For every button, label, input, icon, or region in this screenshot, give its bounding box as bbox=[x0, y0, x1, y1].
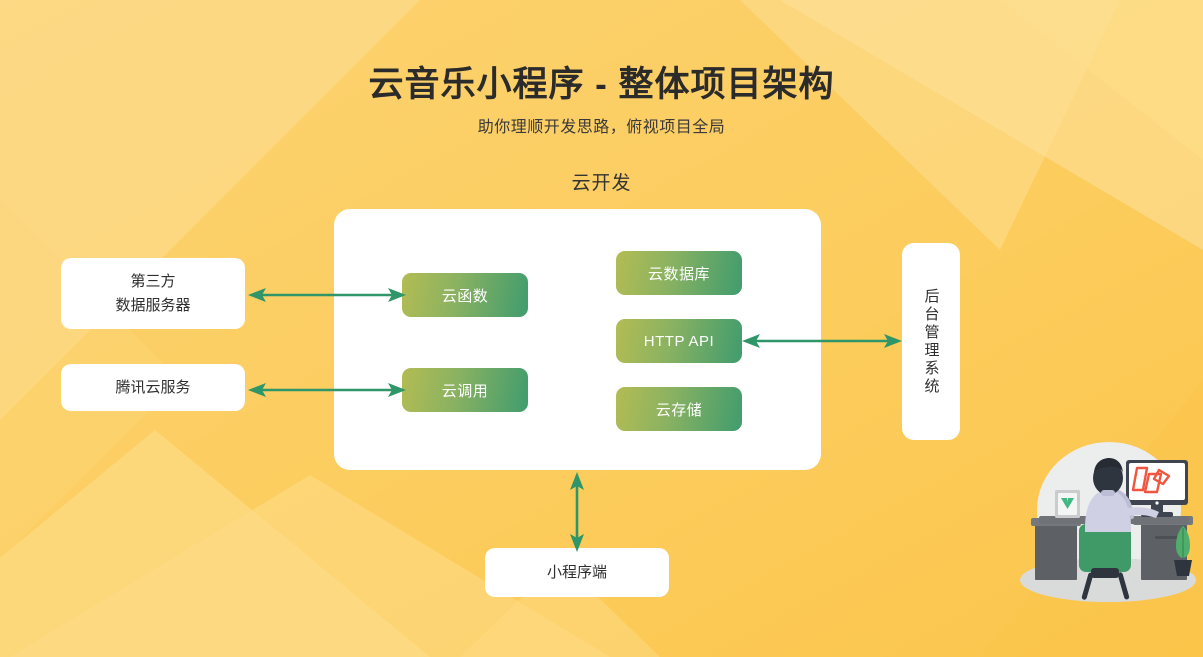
pill-cloud-database[interactable]: 云数据库 bbox=[616, 251, 742, 295]
page-title: 云音乐小程序 - 整体项目架构 bbox=[0, 56, 1203, 107]
developer-at-desk-illustration bbox=[1013, 428, 1203, 618]
node-third-party-data-server[interactable]: 第三方 数据服务器 bbox=[61, 258, 245, 329]
architecture-diagram-canvas: 云音乐小程序 - 整体项目架构 助你理顺开发思路，俯视项目全局 云开发 第三方 … bbox=[0, 0, 1203, 657]
cloud-development-panel bbox=[334, 209, 821, 470]
third-party-line-1: 第三方 bbox=[130, 273, 175, 290]
pill-http-api[interactable]: HTTP API bbox=[616, 319, 742, 363]
pill-cloud-function[interactable]: 云函数 bbox=[402, 273, 528, 317]
cloud-development-label: 云开发 bbox=[0, 168, 1203, 195]
node-admin-management-system[interactable]: 后台管理系统 bbox=[902, 243, 960, 440]
pill-cloud-call[interactable]: 云调用 bbox=[402, 368, 528, 412]
page-subtitle: 助你理顺开发思路，俯视项目全局 bbox=[0, 113, 1203, 137]
third-party-line-2: 数据服务器 bbox=[115, 297, 190, 314]
node-label-third-party: 第三方 数据服务器 bbox=[115, 270, 190, 317]
node-mini-program-client[interactable]: 小程序端 bbox=[485, 548, 669, 597]
arrow-cloud-to-mini-program bbox=[564, 472, 590, 552]
pill-cloud-storage[interactable]: 云存储 bbox=[616, 387, 742, 431]
node-tencent-cloud-service[interactable]: 腾讯云服务 bbox=[61, 364, 245, 411]
